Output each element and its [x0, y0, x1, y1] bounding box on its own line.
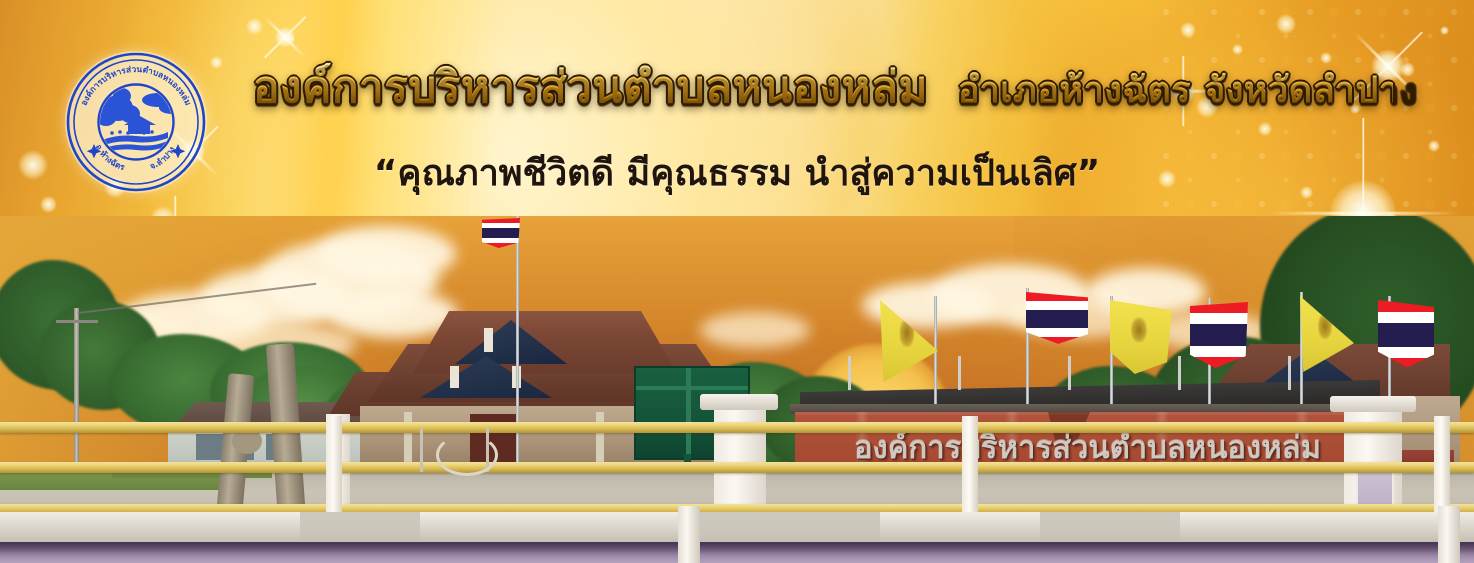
banner-title-sub: อำเภอห้างฉัตร จังหวัดลำปาง: [958, 70, 1418, 111]
cloud: [700, 312, 810, 348]
signboard-frame-bar: [686, 368, 691, 458]
hose-loop: [436, 434, 498, 476]
walkway-post: [1178, 356, 1181, 390]
royal-emblem: [1130, 317, 1146, 342]
flag-pole: [516, 216, 519, 476]
fence-post: [962, 416, 978, 526]
wall-grime: [1040, 512, 1180, 542]
walkway-post: [958, 356, 961, 390]
gate-pillar-cap: [1330, 396, 1416, 412]
walkway-post: [1288, 356, 1291, 390]
fence-rail-middle: [0, 462, 1474, 473]
sign-wall-text-line1: องค์การบริหารส่วนตำบลหนองหล่ม: [795, 430, 1380, 466]
office-photograph: องค์การบริหารส่วนตำบลหนองหล่ม อำเภอห้างฉ…: [0, 216, 1474, 563]
fence-post: [326, 416, 342, 526]
gable-ornament: [484, 328, 493, 352]
walkway-post: [1068, 356, 1071, 390]
boundary-wall-purple: [0, 542, 1474, 563]
gate-pillar-cap: [700, 394, 778, 410]
utility-pole-crossarm: [56, 320, 98, 323]
banner-slogan: “คุณภาพชีวิตดี มีคุณธรรม นำสู่ความเป็นเล…: [0, 148, 1474, 200]
gable-ornament: [450, 366, 459, 388]
walkway-post: [848, 356, 851, 390]
site-header-banner: องค์การบริหารส่วนตำบลหนองหล่ม อ.ห้างฉัตร…: [0, 0, 1474, 563]
boundary-wall-pillar: [1438, 506, 1460, 563]
utility-pole: [74, 308, 79, 476]
wall-grime: [700, 512, 880, 542]
boundary-wall-pillar: [678, 506, 700, 563]
signboard-frame-bar: [636, 386, 748, 390]
fence-rail-top: [0, 422, 1474, 433]
fence-bracket: [420, 428, 423, 472]
banner-title: องค์การบริหารส่วนตำบลหนองหล่ม อำเภอห้างฉ…: [253, 59, 1393, 117]
wall-grime: [300, 512, 420, 542]
banner-title-main: องค์การบริหารส่วนตำบลหนองหล่ม: [253, 62, 928, 113]
thai-flag: [482, 218, 520, 248]
thai-flag: [1190, 302, 1248, 368]
boundary-wall-cap: [0, 512, 1474, 542]
cloud: [316, 226, 456, 282]
wall-top-shadow: [0, 542, 1474, 554]
